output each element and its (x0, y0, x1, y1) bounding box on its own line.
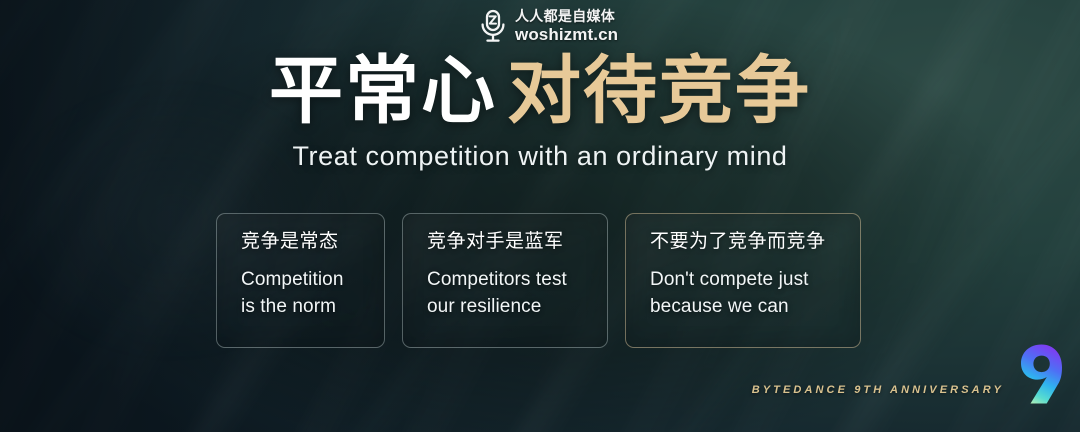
headline: 平常心对待竞争 (0, 54, 1080, 128)
card-dont-compete-just-because-we-can: 不要为了竞争而竞争 Don't compete just because we … (625, 213, 861, 348)
watermark-line-en: woshizmt.cn (515, 26, 618, 44)
cards-row: 竞争是常态 Competition is the norm 竞争对手是蓝军 Co… (216, 213, 861, 348)
watermark: 人人都是自媒体 woshizmt.cn (478, 9, 618, 44)
microphone-z-icon (478, 9, 508, 43)
card-en-line-2: is the norm (241, 294, 362, 321)
subheadline: Treat competition with an ordinary mind (0, 141, 1080, 172)
card-title-cn: 竞争对手是蓝军 (427, 232, 585, 251)
card-competition-is-the-norm: 竞争是常态 Competition is the norm (216, 213, 385, 348)
headline-part-gold: 对待竞争 (507, 49, 811, 132)
card-en-line-1: Don't compete just (650, 267, 838, 294)
card-en-line-2: our resilience (427, 294, 585, 321)
card-en-line-1: Competitors test (427, 267, 585, 294)
anniversary-nine-icon (1008, 343, 1062, 399)
card-body-en: Don't compete just because we can (650, 267, 838, 321)
watermark-line-cn: 人人都是自媒体 (515, 9, 618, 24)
card-en-line-1: Competition (241, 267, 362, 294)
headline-part-white: 平常心 (269, 49, 497, 132)
anniversary-lockup: BYTEDANCE 9TH ANNIVERSARY (752, 343, 1062, 399)
card-body-en: Competition is the norm (241, 267, 362, 321)
card-title-cn: 不要为了竞争而竞争 (650, 232, 838, 251)
card-competitors-test-our-resilience: 竞争对手是蓝军 Competitors test our resilience (402, 213, 608, 348)
card-title-cn: 竞争是常态 (241, 232, 362, 251)
anniversary-label: BYTEDANCE 9TH ANNIVERSARY (752, 384, 1004, 399)
card-body-en: Competitors test our resilience (427, 267, 585, 321)
card-en-line-2: because we can (650, 294, 838, 321)
slide-canvas: 人人都是自媒体 woshizmt.cn 平常心对待竞争 Treat compet… (0, 0, 1080, 432)
watermark-text: 人人都是自媒体 woshizmt.cn (515, 9, 618, 44)
